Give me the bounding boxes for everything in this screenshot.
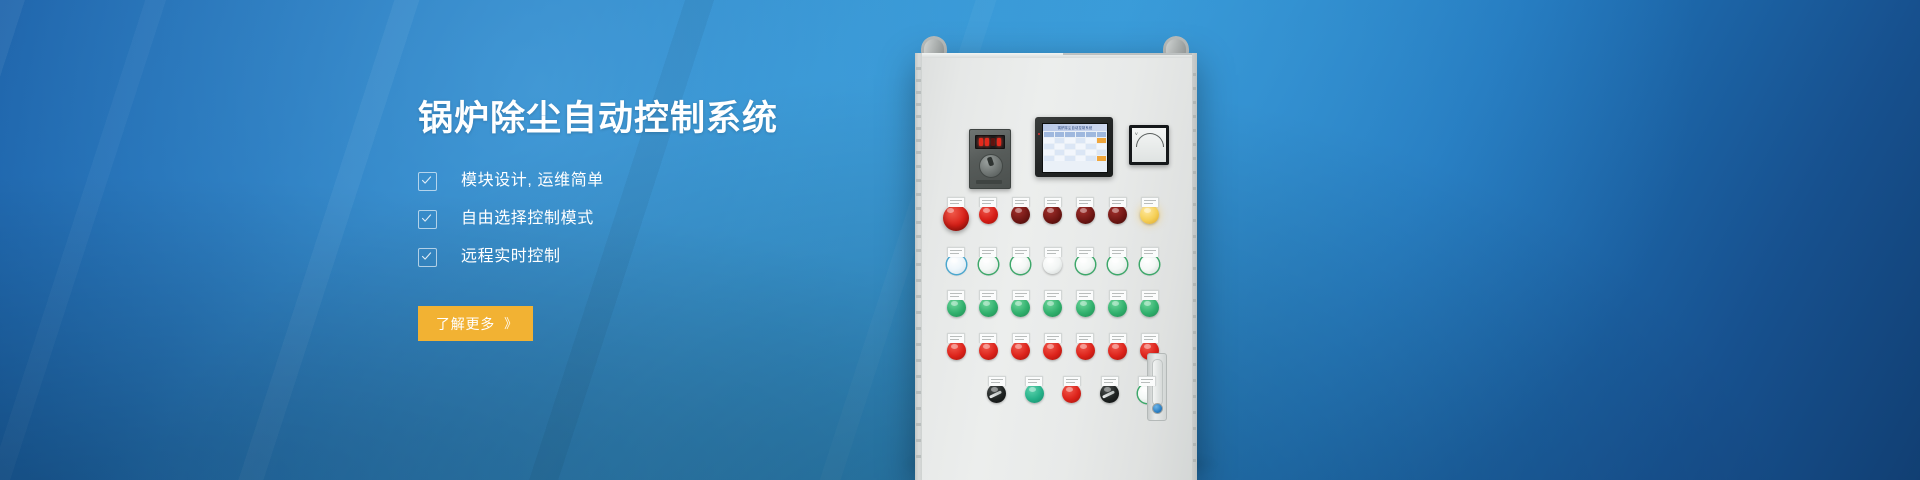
label-tag: [1076, 197, 1094, 207]
feature-label: 远程实时控制: [461, 249, 561, 265]
table-row: [1044, 138, 1106, 143]
stop-button[interactable]: [1108, 341, 1127, 360]
lamp-row-selector: [943, 376, 1169, 403]
label-tag: [979, 197, 997, 207]
button-cell[interactable]: [1008, 247, 1034, 274]
label-tag: [1076, 247, 1094, 257]
feature-label: 模块设计, 运维简单: [461, 173, 604, 189]
vfd-dial-knob[interactable]: [979, 154, 1003, 178]
status-indicator-lamp[interactable]: [1140, 255, 1159, 274]
start-button[interactable]: [947, 298, 966, 317]
hmi-data-grid: [1043, 131, 1107, 172]
start-button[interactable]: [1043, 298, 1062, 317]
button-cell[interactable]: [943, 247, 969, 274]
selector-switch[interactable]: [987, 384, 1006, 403]
label-tag: [1025, 376, 1043, 386]
button-cell[interactable]: [1137, 247, 1163, 274]
button-cell[interactable]: [943, 197, 969, 231]
control-cabinet: 锅炉除尘自动控制系统: [905, 36, 1205, 480]
start-button[interactable]: [1011, 298, 1030, 317]
button-cell[interactable]: [975, 290, 1001, 317]
lamp-row-indicator-white: [943, 247, 1169, 274]
cabinet-hinge-strip: [915, 53, 922, 480]
status-indicator-lamp[interactable]: [1011, 255, 1030, 274]
meter-face: V: [1132, 128, 1166, 162]
button-cell[interactable]: [975, 197, 1001, 231]
selector-switch[interactable]: [1100, 384, 1119, 403]
button-cell[interactable]: [1008, 333, 1034, 360]
label-tag: [947, 197, 965, 207]
table-row: [1044, 132, 1106, 137]
warning-indicator-lamp[interactable]: [1140, 205, 1159, 224]
label-tag: [979, 333, 997, 343]
door-handle[interactable]: [1147, 353, 1167, 421]
button-cell[interactable]: [1040, 290, 1066, 317]
checkbox-icon: [418, 248, 437, 267]
list-item: 模块设计, 运维简单: [418, 170, 888, 192]
label-tag: [1076, 333, 1094, 343]
start-button[interactable]: [1076, 298, 1095, 317]
hmi-touch-panel[interactable]: 锅炉除尘自动控制系统: [1035, 117, 1113, 177]
stop-button[interactable]: [947, 341, 966, 360]
vfd-keypad-base: [976, 180, 1002, 184]
fault-indicator-lamp[interactable]: [1011, 205, 1030, 224]
button-grid: [943, 197, 1169, 419]
label-tag: [979, 290, 997, 300]
button-cell[interactable]: [1040, 247, 1066, 274]
feature-label: 自由选择控制模式: [461, 211, 594, 227]
checkbox-icon: [418, 210, 437, 229]
button-cell[interactable]: [1137, 290, 1163, 317]
button-cell[interactable]: [1072, 333, 1098, 360]
start-button[interactable]: [979, 298, 998, 317]
label-tag: [1141, 247, 1159, 257]
button-cell[interactable]: [975, 247, 1001, 274]
learn-more-label: 了解更多: [436, 314, 495, 334]
label-tag: [1141, 197, 1159, 207]
list-item: 自由选择控制模式: [418, 208, 888, 230]
button-cell[interactable]: [1072, 247, 1098, 274]
checkbox-icon: [418, 172, 437, 191]
vfd-keypad[interactable]: [969, 129, 1011, 189]
button-cell[interactable]: [1104, 290, 1130, 317]
button-cell[interactable]: [1072, 197, 1098, 231]
button-cell[interactable]: [1019, 376, 1051, 403]
fault-indicator-lamp[interactable]: [1108, 205, 1127, 224]
mode-button[interactable]: [1025, 384, 1044, 403]
lamp-row-emergency: [943, 197, 1169, 231]
label-tag: [1109, 197, 1127, 207]
emergency-stop-button[interactable]: [943, 205, 969, 231]
hero-copy-block: 锅炉除尘自动控制系统 模块设计, 运维简单 自由选择控制模式: [418, 98, 888, 341]
reset-button[interactable]: [1062, 384, 1081, 403]
stop-button[interactable]: [1076, 341, 1095, 360]
label-tag: [1012, 197, 1030, 207]
button-cell[interactable]: [975, 333, 1001, 360]
button-cell[interactable]: [1072, 290, 1098, 317]
button-cell[interactable]: [1104, 247, 1130, 274]
list-item: 远程实时控制: [418, 246, 888, 268]
stop-button[interactable]: [1011, 341, 1030, 360]
chevron-right-icon: 》: [504, 317, 515, 330]
status-indicator-lamp[interactable]: [1043, 255, 1062, 274]
vfd-digital-display: [975, 135, 1005, 149]
page-title: 锅炉除尘自动控制系统: [418, 98, 888, 140]
label-tag: [1138, 376, 1156, 386]
label-tag: [1012, 247, 1030, 257]
label-tag: [979, 247, 997, 257]
button-cell[interactable]: [1137, 197, 1163, 231]
button-cell[interactable]: [1040, 197, 1066, 231]
label-tag: [1109, 290, 1127, 300]
stop-button[interactable]: [979, 341, 998, 360]
label-tag: [1076, 290, 1094, 300]
start-button[interactable]: [1140, 298, 1159, 317]
analog-panel-meter: V: [1129, 125, 1169, 165]
fault-indicator-lamp[interactable]: [1043, 205, 1062, 224]
button-cell[interactable]: [1056, 376, 1088, 403]
fault-indicator-lamp[interactable]: [1076, 205, 1095, 224]
label-tag: [1141, 290, 1159, 300]
feature-list: 模块设计, 运维简单 自由选择控制模式 远程实时控制: [418, 170, 888, 268]
label-tag: [1141, 333, 1159, 343]
label-tag: [947, 290, 965, 300]
label-tag: [1012, 333, 1030, 343]
label-tag: [1044, 197, 1062, 207]
lamp-row-start-green: [943, 290, 1169, 317]
start-button[interactable]: [1108, 298, 1127, 317]
label-tag: [1012, 290, 1030, 300]
learn-more-button[interactable]: 了解更多 》: [418, 306, 533, 341]
hmi-power-led-icon: [1038, 133, 1040, 135]
table-row: [1044, 156, 1106, 161]
button-cell[interactable]: [1008, 197, 1034, 231]
button-cell[interactable]: [1040, 333, 1066, 360]
status-indicator-lamp[interactable]: [979, 255, 998, 274]
label-tag: [1044, 290, 1062, 300]
label-tag: [947, 333, 965, 343]
hmi-screen-title: 锅炉除尘自动控制系统: [1043, 124, 1107, 131]
button-cell[interactable]: [943, 333, 969, 360]
status-indicator-lamp[interactable]: [947, 255, 966, 274]
status-indicator-lamp[interactable]: [1076, 255, 1095, 274]
status-indicator-lamp[interactable]: [1108, 255, 1127, 274]
stop-button[interactable]: [1043, 341, 1062, 360]
label-tag: [1109, 333, 1127, 343]
button-cell[interactable]: [981, 376, 1013, 403]
meter-unit-label: V: [1135, 131, 1138, 136]
label-tag: [1109, 247, 1127, 257]
button-cell[interactable]: [1094, 376, 1126, 403]
table-row: [1044, 144, 1106, 149]
button-cell[interactable]: [1008, 290, 1034, 317]
label-tag: [988, 376, 1006, 386]
cabinet-body: 锅炉除尘自动控制系统: [915, 53, 1197, 480]
cabinet-top-seam: [1063, 53, 1192, 55]
button-cell[interactable]: [1104, 197, 1130, 231]
button-cell[interactable]: [1104, 333, 1130, 360]
label-tag: [1044, 247, 1062, 257]
hmi-title-text: 锅炉除尘自动控制系统: [1058, 125, 1093, 130]
lamp-row-stop-red: [943, 333, 1169, 360]
hmi-screen[interactable]: 锅炉除尘自动控制系统: [1042, 123, 1108, 173]
button-cell[interactable]: [943, 290, 969, 317]
label-tag: [1063, 376, 1081, 386]
table-row: [1044, 150, 1106, 155]
hero-banner: 锅炉除尘自动控制系统 模块设计, 运维简单 自由选择控制模式: [0, 0, 1920, 480]
meter-hub: [1145, 153, 1153, 161]
label-tag: [1101, 376, 1119, 386]
label-tag: [1044, 333, 1062, 343]
label-tag: [947, 247, 965, 257]
alarm-button[interactable]: [979, 205, 998, 224]
cabinet-right-seam: [1192, 53, 1197, 480]
lock-cylinder-icon[interactable]: [1152, 403, 1163, 414]
